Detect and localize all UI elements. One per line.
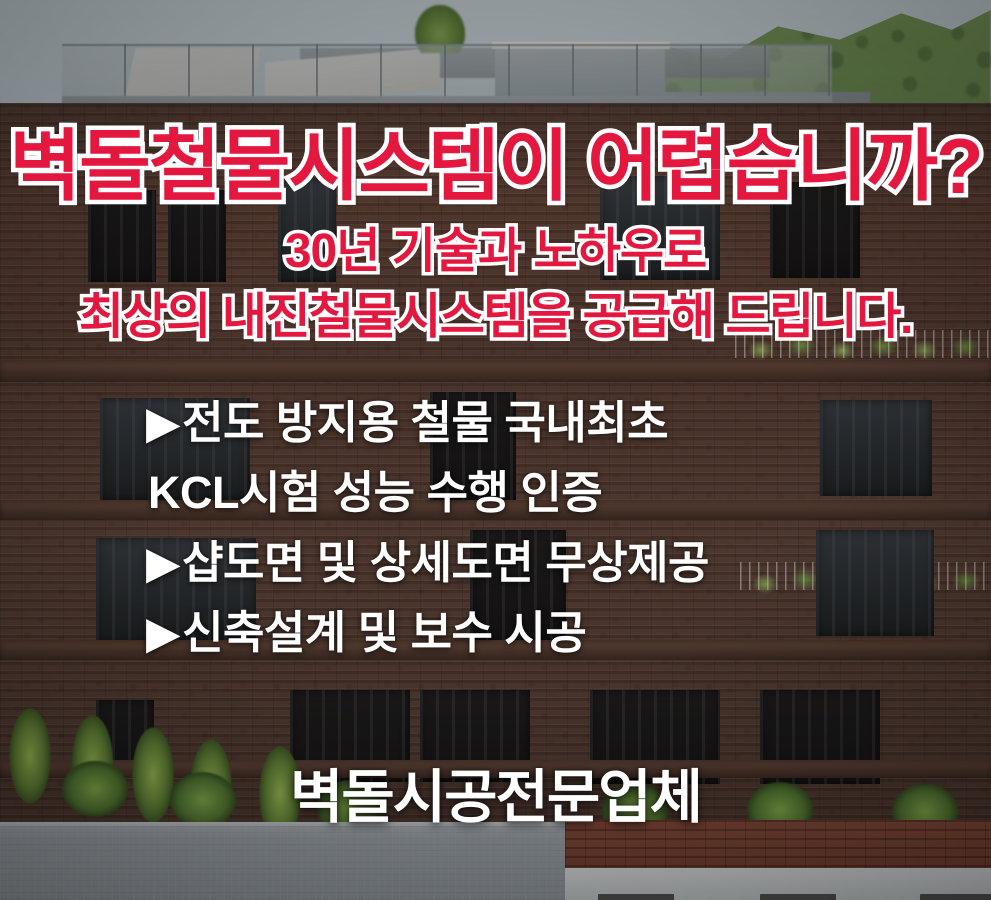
list-item-label: KCL시험 성능 수행 인증 — [148, 467, 602, 518]
advertisement-banner: 벽돌철물시스템이 어렵습니까? 30년 기술과 노하우로 최상의 내진철물시스템… — [0, 0, 991, 900]
list-item: ▶전도 방지용 철물 국내최초 — [146, 388, 906, 458]
triangle-bullet-icon: ▶ — [146, 528, 180, 598]
feature-list: ▶전도 방지용 철물 국내최초 KCL시험 성능 수행 인증 ▶샵도면 및 상세… — [146, 388, 906, 668]
list-item-label: 전도 방지용 철물 국내최초 — [182, 397, 668, 448]
list-item: ▶신축설계 및 보수 시공 — [146, 598, 906, 668]
list-item: KCL시험 성능 수행 인증 — [146, 458, 906, 528]
subheadline-line-1: 30년 기술과 노하우로 — [0, 228, 991, 276]
list-item-label: 신축설계 및 보수 시공 — [182, 607, 586, 658]
text-overlay: 벽돌철물시스템이 어렵습니까? 30년 기술과 노하우로 최상의 내진철물시스템… — [0, 0, 991, 900]
triangle-bullet-icon: ▶ — [146, 388, 180, 458]
footer-tagline: 벽돌시공전문업체 — [0, 750, 991, 834]
list-item-label: 샵도면 및 상세도면 무상제공 — [182, 537, 709, 588]
triangle-bullet-icon: ▶ — [146, 598, 180, 668]
headline: 벽돌철물시스템이 어렵습니까? — [0, 127, 991, 205]
list-item: ▶샵도면 및 상세도면 무상제공 — [146, 528, 906, 598]
subheadline-line-2: 최상의 내진철물시스템을 공급해 드립니다. — [0, 293, 991, 342]
